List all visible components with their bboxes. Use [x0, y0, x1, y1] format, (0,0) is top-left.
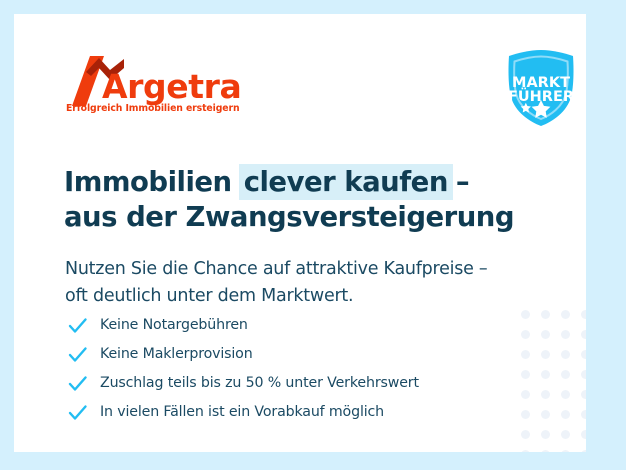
dot	[541, 370, 550, 379]
headline-dash: –	[456, 166, 469, 198]
list-item-label: Keine Notargebühren	[100, 318, 248, 332]
dot	[581, 390, 586, 399]
headline-plain-1: Immobilien	[64, 166, 241, 198]
dot	[521, 390, 530, 399]
list-item-label: Keine Maklerprovision	[100, 347, 253, 361]
subheadline: Nutzen Sie die Chance auf attraktive Kau…	[65, 256, 555, 310]
dot	[521, 350, 530, 359]
subheadline-line-1: Nutzen Sie die Chance auf attraktive Kau…	[65, 256, 555, 283]
dot	[561, 390, 570, 399]
dot	[581, 370, 586, 379]
dot	[521, 370, 530, 379]
dot	[541, 430, 550, 439]
dot	[521, 450, 530, 452]
check-icon	[67, 344, 88, 365]
dot	[581, 410, 586, 419]
headline-highlight: clever kaufen	[239, 164, 453, 200]
dot	[541, 310, 550, 319]
check-icon	[67, 402, 88, 423]
dot	[581, 430, 586, 439]
argetra-logo[interactable]: Argetra Erfolgreich Immobilien ersteiger…	[66, 54, 281, 120]
dot	[561, 370, 570, 379]
dot	[541, 390, 550, 399]
check-icon	[67, 373, 88, 394]
dot	[561, 350, 570, 359]
dot	[521, 430, 530, 439]
headline-line-2: aus der Zwangsversteigerung	[64, 200, 544, 235]
headline-line-1: Immobilien clever kaufen–	[64, 165, 544, 200]
dot	[541, 410, 550, 419]
dot	[561, 310, 570, 319]
logo-tagline: Erfolgreich Immobilien ersteigern	[66, 103, 239, 114]
logo-wordmark: Argetra	[102, 70, 241, 103]
dot	[521, 410, 530, 419]
list-item: In vielen Fällen ist ein Vorabkauf mögli…	[67, 398, 517, 427]
dot	[561, 450, 570, 452]
dot	[561, 430, 570, 439]
market-leader-badge: MARKT FÜHRER	[500, 47, 582, 129]
dot	[581, 350, 586, 359]
list-item-label: Zuschlag teils bis zu 50 % unter Verkehr…	[100, 376, 419, 390]
promo-banner: Argetra Erfolgreich Immobilien ersteiger…	[0, 0, 626, 470]
dot	[541, 450, 550, 452]
dot	[581, 310, 586, 319]
dot	[561, 410, 570, 419]
list-item-label: In vielen Fällen ist ein Vorabkauf mögli…	[100, 405, 384, 419]
benefit-list: Keine Notargebühren Keine Maklerprovisio…	[67, 311, 517, 427]
dot-grid-decoration	[521, 310, 586, 452]
subheadline-line-2: oft deutlich unter dem Marktwert.	[65, 283, 555, 310]
dot	[521, 330, 530, 339]
list-item: Keine Maklerprovision	[67, 340, 517, 369]
dot	[561, 330, 570, 339]
dot	[581, 330, 586, 339]
dot	[521, 310, 530, 319]
dot	[541, 330, 550, 339]
list-item: Zuschlag teils bis zu 50 % unter Verkehr…	[67, 369, 517, 398]
page-title: Immobilien clever kaufen– aus der Zwangs…	[64, 165, 544, 235]
list-item: Keine Notargebühren	[67, 311, 517, 340]
check-icon	[67, 315, 88, 336]
dot	[541, 350, 550, 359]
promo-card: Argetra Erfolgreich Immobilien ersteiger…	[14, 14, 586, 452]
dot	[581, 450, 586, 452]
